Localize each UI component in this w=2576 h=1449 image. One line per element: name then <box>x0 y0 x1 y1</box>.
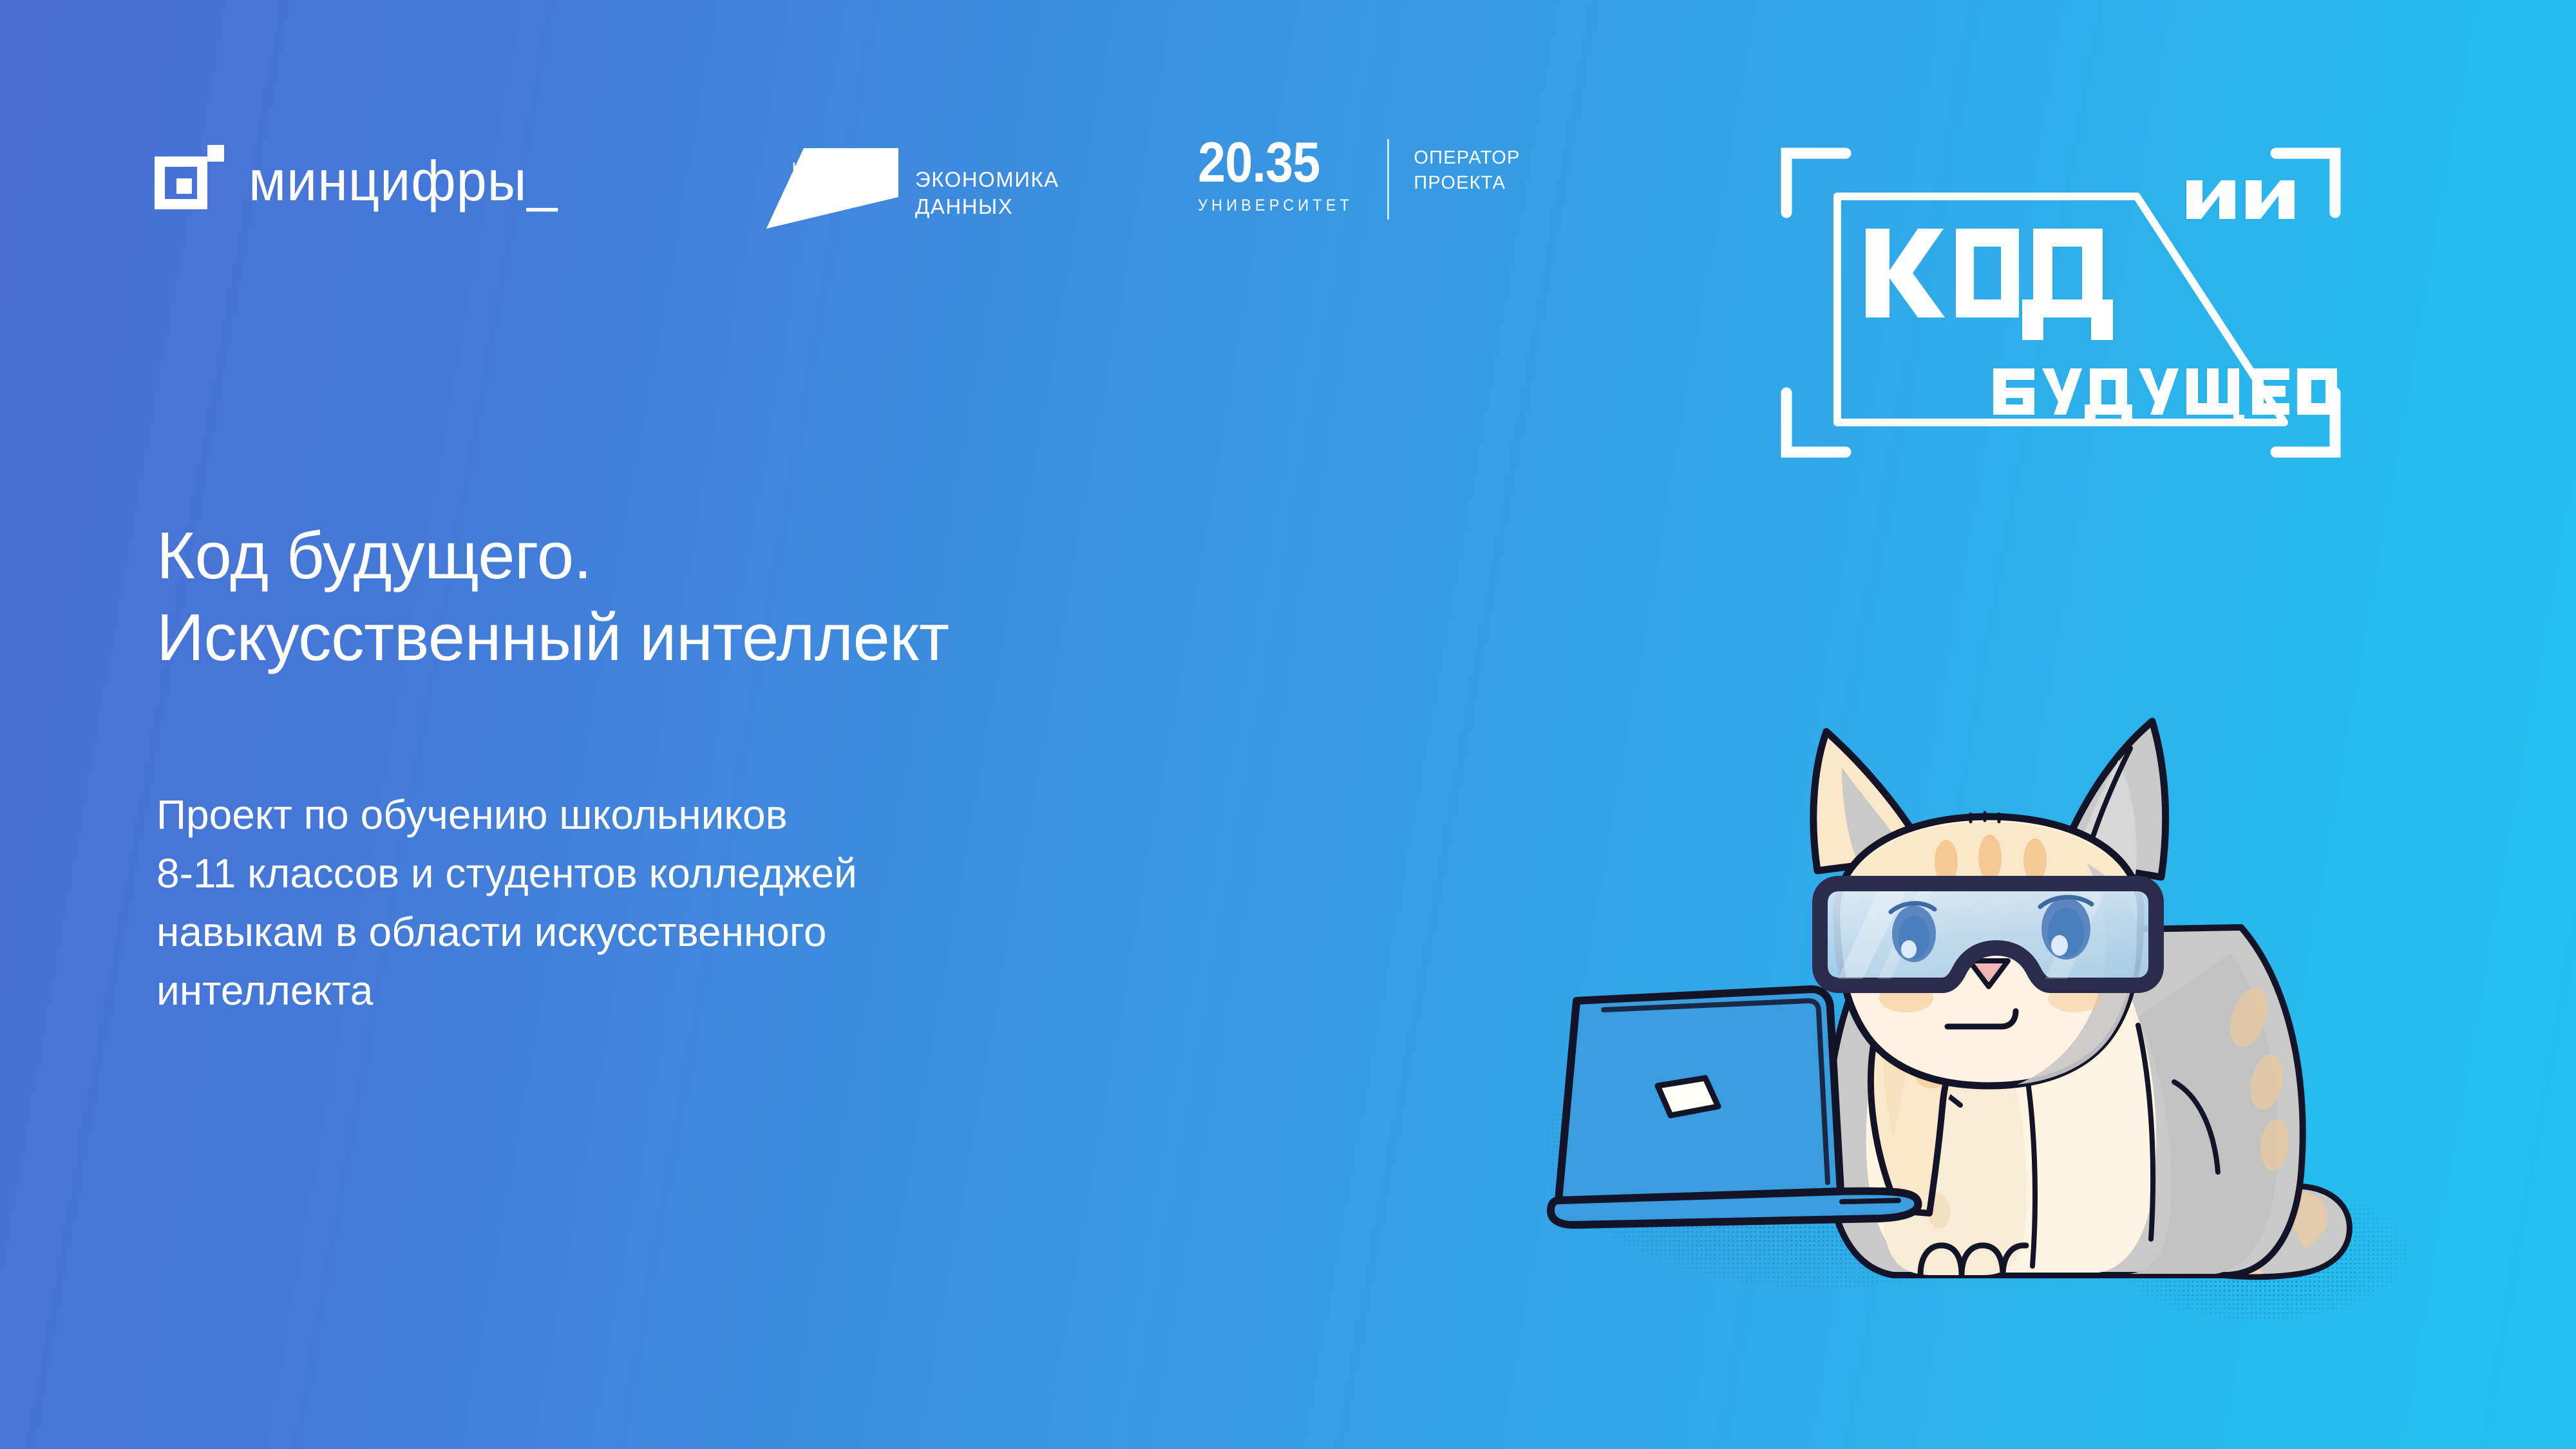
flag-line-3: РОССИИ <box>793 188 893 202</box>
mincifry-wordmark: минцифры_ <box>249 153 558 209</box>
page-title: Код будущего. Искусственный интеллект <box>156 515 949 678</box>
university-2035-subtitle: УНИВЕРСИТЕТ <box>1198 196 1353 215</box>
page-subtitle: Проект по обучению школьников 8-11 класс… <box>156 786 857 1020</box>
kod-superscript-ii <box>2186 180 2295 219</box>
kod-word-top <box>1866 229 2113 340</box>
mincifry-square-mark-icon <box>155 145 227 217</box>
university-2035-number: 20.35 <box>1198 137 1343 189</box>
national-projects-flag-icon: НАЦИОНАЛЬНЫЕ ПРОЕКТЫ РОССИИ <box>766 135 898 229</box>
vertical-divider <box>1387 139 1389 220</box>
flag-line-1: НАЦИОНАЛЬНЫЕ <box>793 160 893 174</box>
flag-line-2: ПРОЕКТЫ <box>793 174 893 188</box>
econ-line-1: ЭКОНОМИКА <box>915 166 1059 193</box>
logo-mincifry[interactable]: минцифры_ <box>155 145 571 217</box>
logo-kod-budushchego[interactable] <box>1781 142 2341 464</box>
operator-role-line-1: ОПЕРАТОР <box>1414 146 1520 171</box>
operator-role-line-2: ПРОЕКТА <box>1414 171 1520 196</box>
poster-canvas: минцифры_ НАЦИОНАЛЬНЫЕ ПРОЕКТЫ РОССИИ ЭК… <box>0 0 2576 1449</box>
laptop-logo-icon <box>1658 1078 1718 1115</box>
econ-line-2: ДАННЫХ <box>915 193 1059 220</box>
cat-with-vr-goggles-and-laptop-illustration <box>1520 631 2434 1352</box>
logo-national-projects[interactable]: НАЦИОНАЛЬНЫЕ ПРОЕКТЫ РОССИИ ЭКОНОМИКА ДА… <box>766 135 1059 229</box>
logo-university-2035[interactable]: 20.35 УНИВЕРСИТЕТ ОПЕРАТОР ПРОЕКТА <box>1198 137 1520 220</box>
